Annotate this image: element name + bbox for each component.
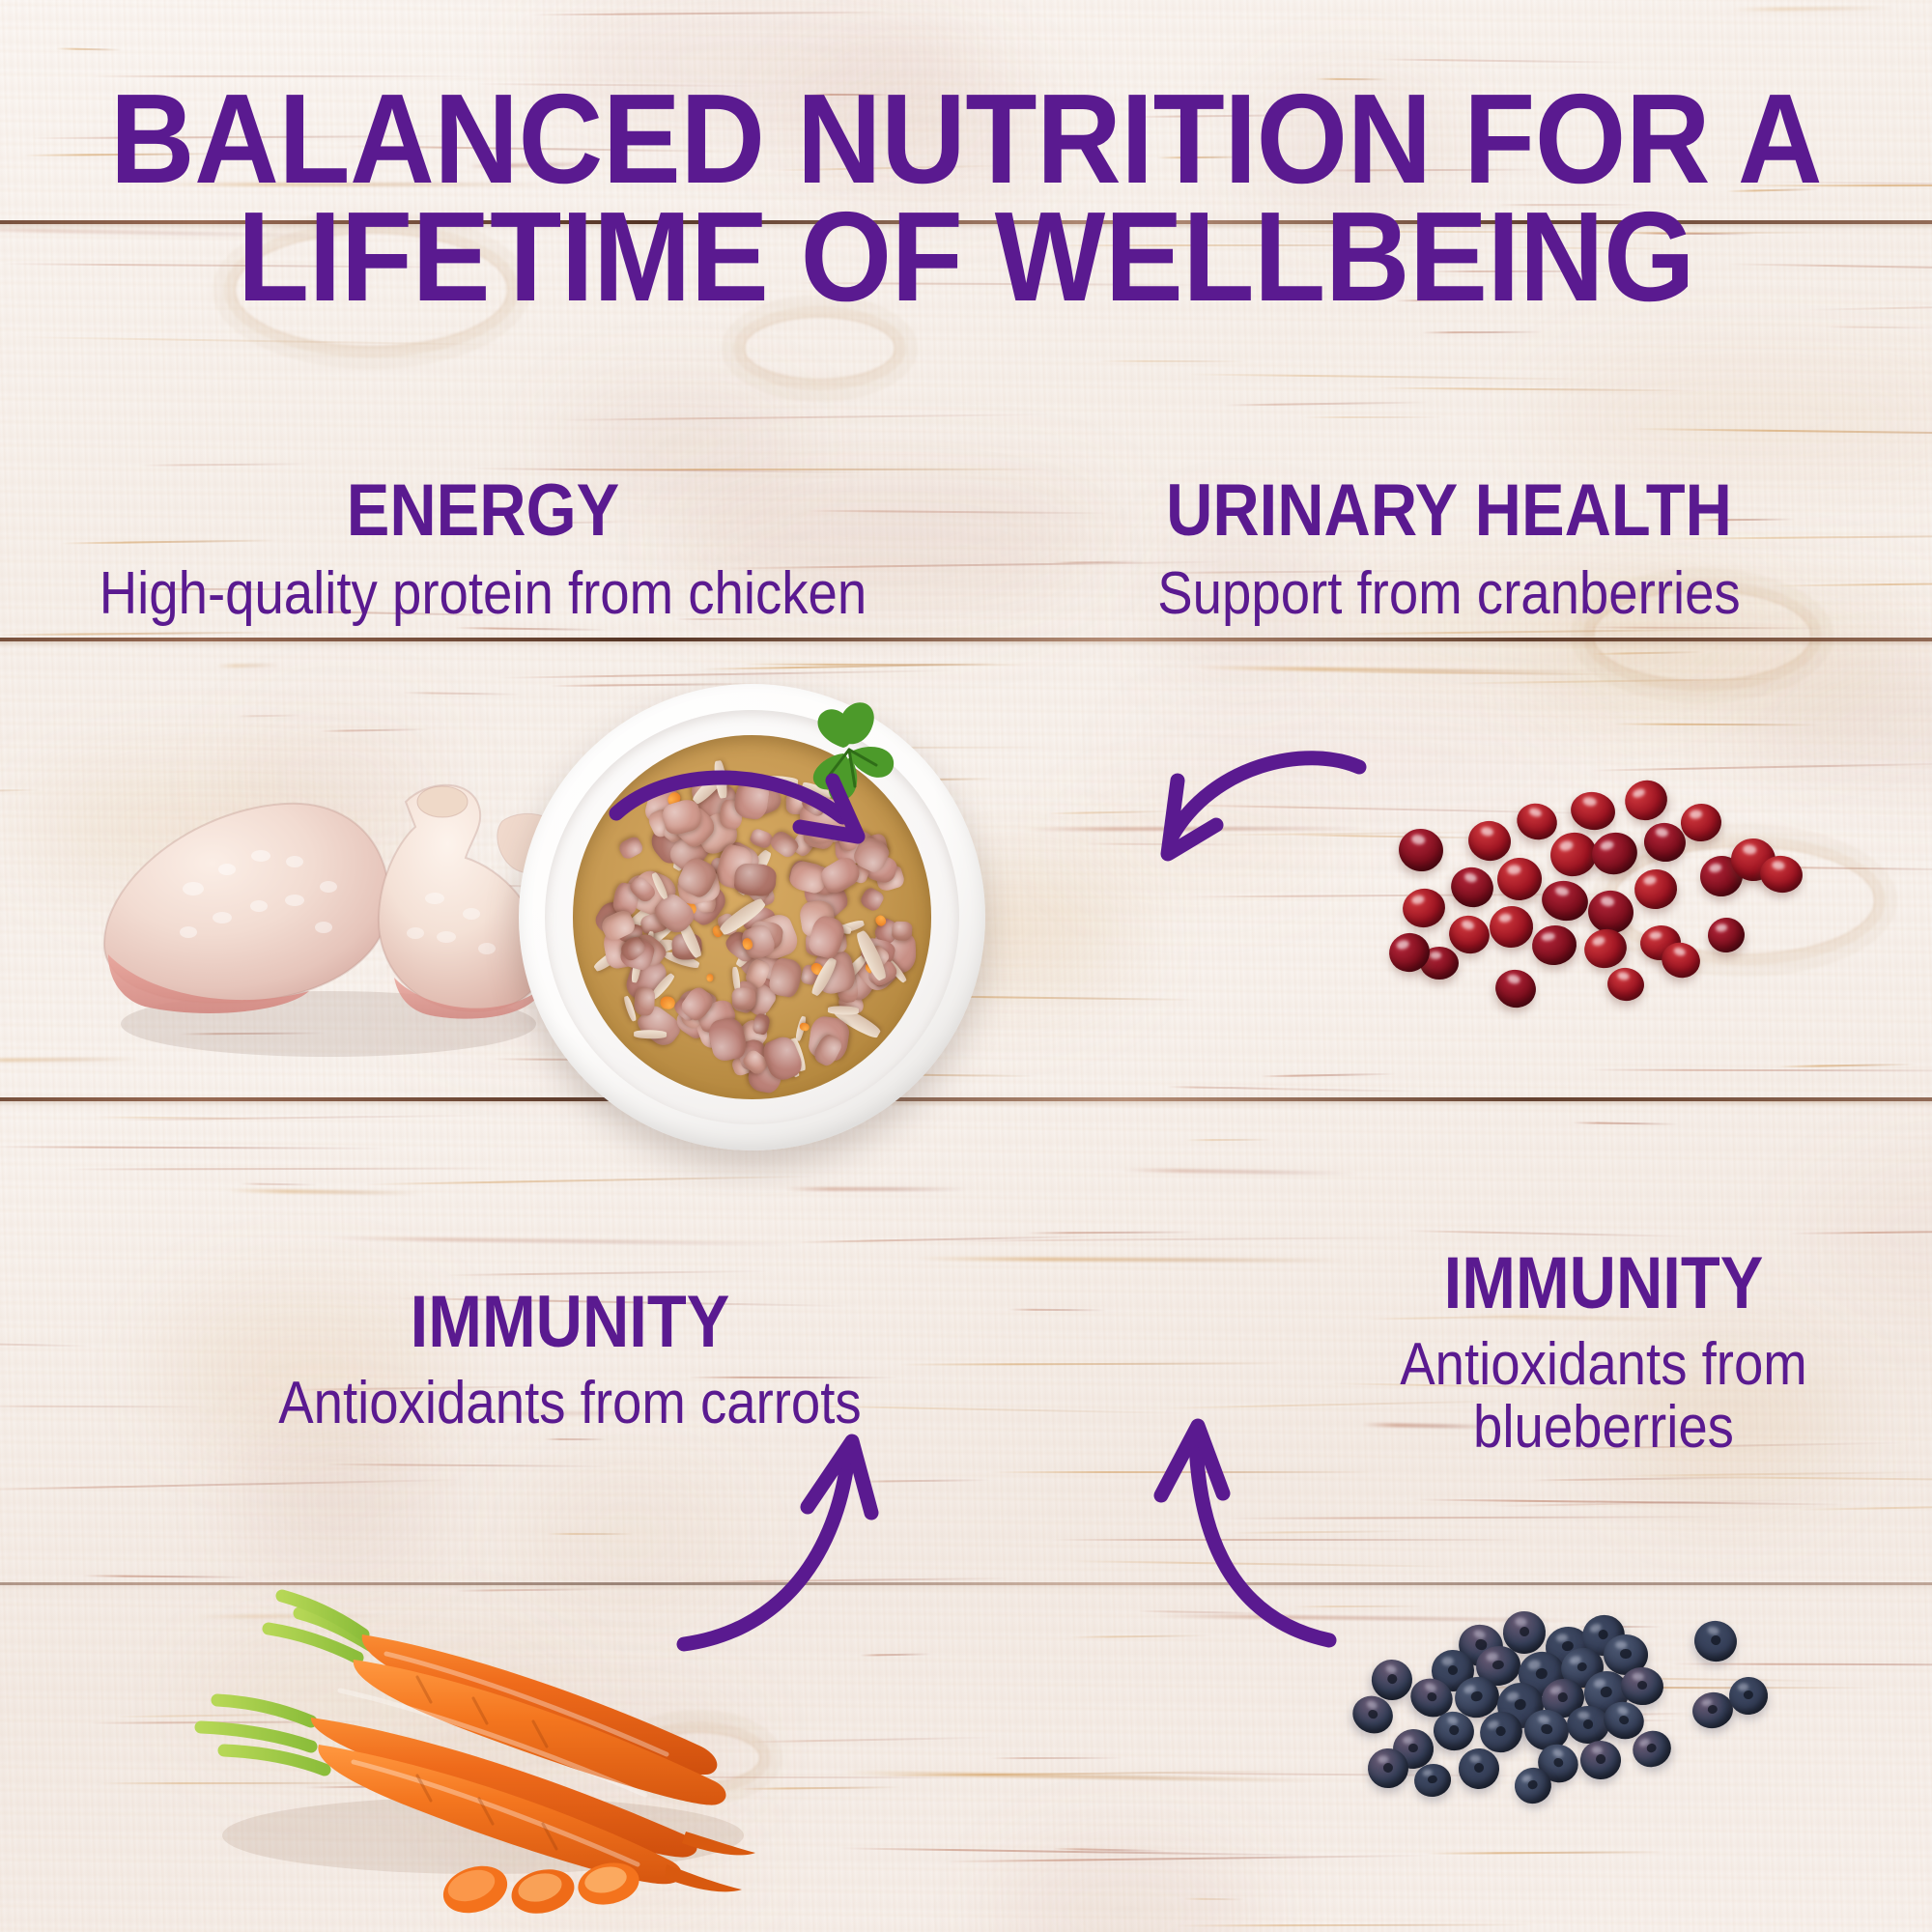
cranberry: [1446, 862, 1498, 912]
blueberries-ingredient-image: [1314, 1604, 1816, 1874]
cranberry-highlight: [1591, 935, 1605, 947]
blueberry-calyx-icon: [1744, 1690, 1754, 1699]
blueberry-highlight: [1707, 1626, 1719, 1636]
cranberry-highlight: [1554, 885, 1570, 896]
cranberry-highlight: [1430, 952, 1441, 958]
cranberry-highlight: [1617, 972, 1630, 980]
food-shred: [828, 1006, 859, 1015]
benefit-urinary-health: URINARY HEALTH Support from cranberries: [966, 473, 1932, 625]
cranberry: [1400, 885, 1448, 930]
blueberry-calyx-icon: [1535, 1667, 1548, 1680]
food-chunk: [752, 1012, 770, 1036]
blueberry-calyx-icon: [1600, 1686, 1612, 1698]
chicken-ingredient-image: [87, 734, 589, 1082]
cranberry: [1632, 867, 1680, 912]
cranberry-highlight: [1396, 939, 1409, 951]
food-chunk: [633, 986, 655, 1015]
blueberry: [1727, 1675, 1770, 1717]
cranberry: [1395, 825, 1447, 876]
cranberries-ingredient-image: [1343, 763, 1826, 1024]
blueberry-calyx-icon: [1448, 1664, 1459, 1675]
benefit-immunity-blueberries-subtitle: Antioxidants from blueberries: [1315, 1333, 1892, 1460]
chicken-svg: [87, 734, 589, 1082]
cranberry: [1487, 903, 1535, 950]
cranberry: [1679, 802, 1723, 844]
blueberry-calyx-icon: [1583, 1719, 1594, 1729]
benefit-urinary-title: URINARY HEALTH: [1024, 473, 1874, 549]
blueberry-calyx-icon: [1552, 1756, 1565, 1769]
benefit-urinary-subtitle: Support from cranberries: [1024, 562, 1874, 626]
blueberry-highlight: [1537, 1715, 1549, 1725]
blueberry-calyx-icon: [1367, 1708, 1379, 1719]
blueberry-calyx-icon: [1383, 1762, 1394, 1773]
cranberry-highlight: [1655, 827, 1668, 838]
cranberry-highlight: [1708, 863, 1722, 874]
blueberry-calyx-icon: [1556, 1691, 1569, 1703]
cranberry-highlight: [1601, 895, 1616, 907]
product-bowl: [519, 684, 985, 1151]
blueberry-highlight: [1616, 1705, 1629, 1716]
blueberry-calyx-icon: [1426, 1690, 1438, 1703]
blueberry-highlight: [1515, 1617, 1527, 1627]
blueberry-calyx-icon: [1428, 1775, 1437, 1783]
blueberry-calyx-icon: [1470, 1690, 1483, 1703]
blueberry-calyx-icon: [1636, 1681, 1647, 1690]
blueberry: [1578, 1739, 1622, 1780]
blueberry-calyx-icon: [1710, 1634, 1722, 1646]
blueberry-calyx-icon: [1386, 1673, 1399, 1686]
carrots-svg: [164, 1546, 763, 1932]
cranberry-highlight: [1600, 839, 1615, 852]
cranberry-highlight: [1558, 839, 1574, 852]
blueberry-calyx-icon: [1407, 1743, 1418, 1753]
cranberry-highlight: [1631, 787, 1645, 800]
blueberry-calyx-icon: [1576, 1661, 1588, 1672]
carrots-ingredient-image: [164, 1546, 763, 1932]
cranberry: [1605, 965, 1646, 1004]
parsley-garnish-icon: [776, 694, 921, 819]
cranberry: [1529, 923, 1578, 968]
cranberry-highlight: [1771, 860, 1784, 869]
benefit-immunity-carrots-title: IMMUNITY: [69, 1285, 1071, 1360]
blueberry-calyx-icon: [1448, 1724, 1461, 1736]
benefit-immunity-blueberries: IMMUNITY Antioxidants from blueberries: [1275, 1246, 1932, 1460]
food-chunk: [731, 987, 756, 1011]
cranberry-highlight: [1528, 807, 1543, 818]
cranberry-highlight: [1498, 913, 1513, 923]
cranberry: [1619, 775, 1672, 826]
blueberry: [1690, 1616, 1742, 1665]
blueberry-calyx-icon: [1514, 1698, 1527, 1712]
cranberry-highlight: [1507, 865, 1520, 875]
blueberry-calyx-icon: [1492, 1660, 1504, 1670]
page-title-line-1: BALANCED NUTRITION FOR A: [77, 75, 1855, 203]
cranberry-highlight: [1480, 826, 1494, 838]
cranberry-highlight: [1541, 931, 1555, 942]
blueberry-highlight: [1591, 1747, 1603, 1755]
food-chunk: [734, 863, 778, 897]
cranberry: [1579, 923, 1632, 973]
blueberry: [1566, 1705, 1609, 1745]
blueberry-calyx-icon: [1474, 1763, 1485, 1774]
benefit-immunity-carrots-subtitle: Antioxidants from carrots: [69, 1372, 1071, 1435]
benefit-energy-subtitle: High-quality protein from chicken: [58, 562, 908, 626]
carrot-piece: [706, 974, 713, 981]
blueberry-highlight: [1615, 1641, 1627, 1650]
cranberry-highlight: [1410, 895, 1425, 905]
blueberry-calyx-icon: [1494, 1725, 1507, 1738]
blueberry-calyx-icon: [1646, 1743, 1658, 1754]
cranberry: [1496, 856, 1544, 901]
food-chunk: [617, 836, 645, 863]
blueberry-highlight: [1442, 1657, 1454, 1665]
blueberry-calyx-icon: [1707, 1705, 1718, 1716]
cranberry-highlight: [1582, 796, 1597, 807]
cranberry-highlight: [1410, 834, 1426, 845]
cranberry-highlight: [1690, 810, 1702, 819]
cranberry-highlight: [1716, 923, 1727, 932]
blueberry-calyx-icon: [1620, 1649, 1631, 1659]
blueberry: [1458, 1747, 1501, 1790]
cranberry: [1706, 916, 1747, 954]
cranberry: [1464, 817, 1515, 865]
cranberry: [1512, 798, 1561, 845]
benefit-immunity-blueberries-title: IMMUNITY: [1315, 1246, 1892, 1321]
blueberry-calyx-icon: [1596, 1754, 1606, 1764]
food-shred: [634, 1030, 667, 1039]
blueberry-calyx-icon: [1519, 1626, 1530, 1637]
cranberry-highlight: [1643, 875, 1657, 886]
page-title-line-2: LIFETIME OF WELLBEING: [77, 193, 1855, 321]
cranberry: [1568, 788, 1618, 834]
cranberry: [1587, 828, 1642, 880]
cranberry-highlight: [1461, 919, 1475, 930]
benefit-energy-title: ENERGY: [58, 473, 908, 549]
blueberry-highlight: [1469, 1754, 1480, 1763]
cranberry: [1492, 965, 1541, 1012]
benefit-energy: ENERGY High-quality protein from chicken: [0, 473, 966, 625]
cranberry-highlight: [1649, 931, 1662, 940]
blueberry-calyx-icon: [1597, 1629, 1609, 1641]
blueberry-calyx-icon: [1618, 1714, 1631, 1725]
cranberry-highlight: [1507, 974, 1520, 985]
cranberry-highlight: [1463, 871, 1477, 884]
blueberry-highlight: [1633, 1673, 1644, 1682]
infographic-canvas: BALANCED NUTRITION FOR A LIFETIME OF WEL…: [0, 0, 1932, 1932]
benefit-immunity-carrots: IMMUNITY Antioxidants from carrots: [0, 1285, 1140, 1435]
plank-seam: [0, 638, 1932, 641]
cranberry-highlight: [1672, 946, 1686, 956]
cranberry: [1538, 876, 1591, 924]
blueberry-highlight: [1578, 1712, 1590, 1719]
food-chunk: [768, 828, 802, 860]
cranberry-highlight: [1743, 844, 1757, 855]
blueberry-calyx-icon: [1527, 1779, 1538, 1790]
blueberry-calyx-icon: [1541, 1723, 1553, 1735]
